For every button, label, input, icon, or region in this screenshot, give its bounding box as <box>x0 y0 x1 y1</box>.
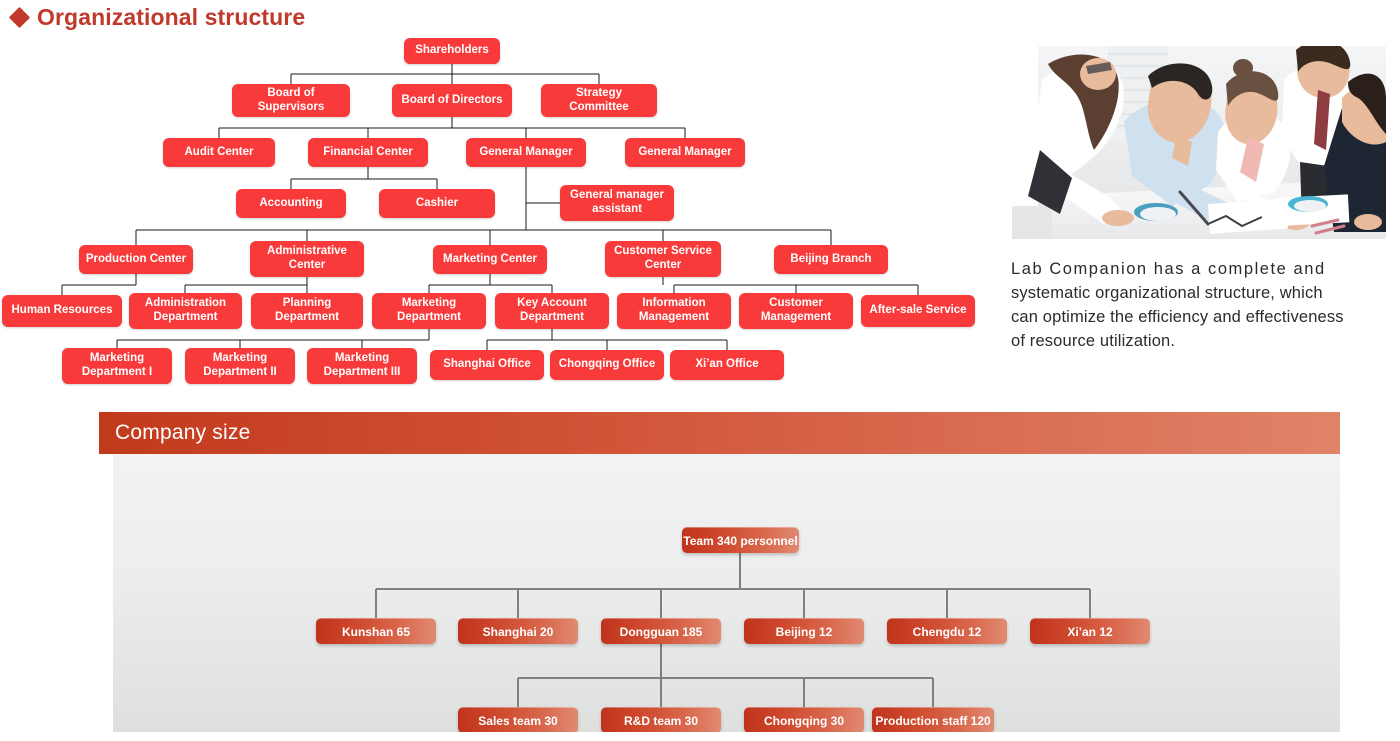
org-node-key-account-department[interactable]: Key Account Department <box>495 293 609 329</box>
org-node-marketing-department-i[interactable]: Marketing Department I <box>62 348 172 384</box>
org-node-accounting[interactable]: Accounting <box>236 189 346 218</box>
org-node-xian-office[interactable]: Xi’an Office <box>670 350 784 380</box>
org-node-general-manager-2[interactable]: General Manager <box>625 138 745 167</box>
org-node-marketing-department-ii[interactable]: Marketing Department II <box>185 348 295 384</box>
size-node-kunshan[interactable]: Kunshan 65 <box>316 618 436 644</box>
org-node-marketing-center[interactable]: Marketing Center <box>433 245 547 274</box>
description-text: Lab Companion has a complete and systema… <box>1011 258 1400 354</box>
size-node-rd-team[interactable]: R&D team 30 <box>601 707 721 732</box>
company-size-body: Team 340 personnel Kunshan 65 Shanghai 2… <box>113 454 1340 732</box>
organizational-chart: Shareholders Board of Supervisors Board … <box>0 0 1000 400</box>
org-node-customer-service-center[interactable]: Customer Service Center <box>605 241 721 277</box>
company-size-header: Company size <box>99 412 1340 454</box>
org-node-chongqing-office[interactable]: Chongqing Office <box>550 350 664 380</box>
size-node-shanghai[interactable]: Shanghai 20 <box>458 618 578 644</box>
size-node-production-staff[interactable]: Production staff 120 <box>872 707 994 732</box>
size-node-xian[interactable]: Xi’an 12 <box>1030 618 1150 644</box>
org-node-general-manager-1[interactable]: General Manager <box>466 138 586 167</box>
org-node-administrative-center[interactable]: Administrative Center <box>250 241 364 277</box>
size-node-dongguan[interactable]: Dongguan 185 <box>601 618 721 644</box>
org-node-shareholders[interactable]: Shareholders <box>404 38 500 64</box>
org-node-financial-center[interactable]: Financial Center <box>308 138 428 167</box>
org-node-customer-management[interactable]: Customer Management <box>739 293 853 329</box>
org-node-information-management[interactable]: Information Management <box>617 293 731 329</box>
description-line-1: Lab Companion has a complete and <box>1011 258 1400 282</box>
org-node-after-sale-service[interactable]: After-sale Service <box>861 295 975 327</box>
company-size-panel: Company size <box>99 412 1340 732</box>
team-meeting-photo <box>1012 46 1386 239</box>
org-node-production-center[interactable]: Production Center <box>79 245 193 274</box>
org-node-general-manager-assistant[interactable]: General manager assistant <box>560 185 674 221</box>
org-node-board-of-directors[interactable]: Board of Directors <box>392 84 512 117</box>
size-node-beijing[interactable]: Beijing 12 <box>744 618 864 644</box>
org-node-planning-department[interactable]: Planning Department <box>251 293 363 329</box>
org-node-cashier[interactable]: Cashier <box>379 189 495 218</box>
org-node-beijing-branch[interactable]: Beijing Branch <box>774 245 888 274</box>
org-node-human-resources[interactable]: Human Resources <box>2 295 122 327</box>
org-node-marketing-department-iii[interactable]: Marketing Department III <box>307 348 417 384</box>
description-line-2: systematic organizational structure, whi… <box>1011 282 1400 306</box>
org-chart-connectors <box>0 0 1000 400</box>
org-node-audit-center[interactable]: Audit Center <box>163 138 275 167</box>
size-node-chongqing[interactable]: Chongqing 30 <box>744 707 864 732</box>
company-size-connectors <box>113 454 1340 732</box>
description-line-4: of resource utilization. <box>1011 330 1400 354</box>
size-node-sales-team[interactable]: Sales team 30 <box>458 707 578 732</box>
description-line-3: can optimize the efficiency and effectiv… <box>1011 306 1400 330</box>
org-node-shanghai-office[interactable]: Shanghai Office <box>430 350 544 380</box>
org-node-marketing-department[interactable]: Marketing Department <box>372 293 486 329</box>
org-node-board-of-supervisors[interactable]: Board of Supervisors <box>232 84 350 117</box>
org-node-administration-department[interactable]: Administration Department <box>129 293 242 329</box>
size-node-chengdu[interactable]: Chengdu 12 <box>887 618 1007 644</box>
org-node-strategy-committee[interactable]: Strategy Committee <box>541 84 657 117</box>
company-size-title: Company size <box>99 421 250 445</box>
size-node-team-total[interactable]: Team 340 personnel <box>682 527 799 553</box>
